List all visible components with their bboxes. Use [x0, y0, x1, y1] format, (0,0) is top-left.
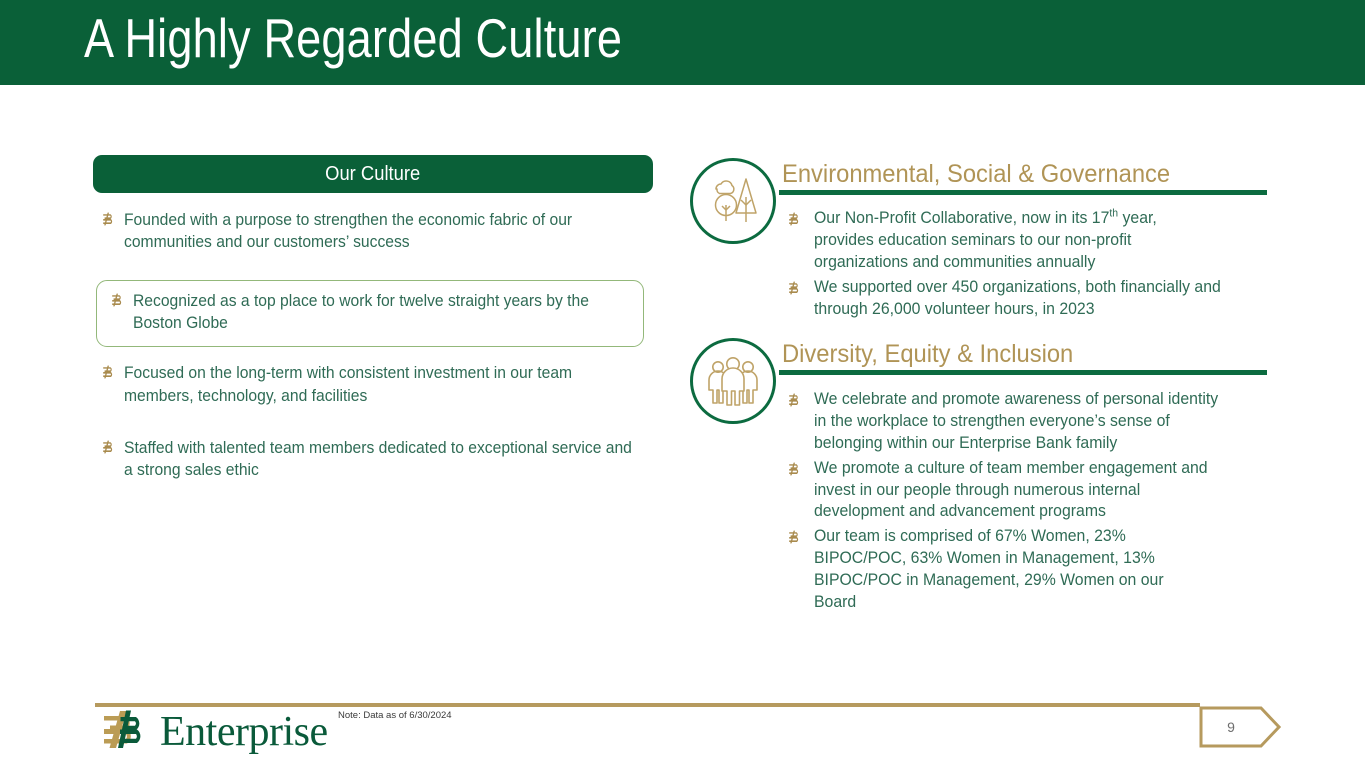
dei-list: We celebrate and promote awareness of pe…: [786, 389, 1272, 617]
footer-note: Note: Data as of 6/30/2024: [338, 710, 452, 721]
list-item: We promote a culture of team member enga…: [786, 458, 1272, 524]
list-item-text: We promote a culture of team member enga…: [814, 458, 1229, 524]
list-item-text: Focused on the long-term with consistent…: [124, 362, 621, 407]
footer-divider: [95, 703, 1200, 707]
eb-bullet-icon: [786, 277, 814, 295]
list-item-text: Our Non-Profit Collaborative, now in its…: [814, 208, 1200, 274]
eb-bullet-icon: [786, 458, 814, 476]
eb-bullet-icon: [96, 362, 124, 379]
our-culture-list: Founded with a purpose to strengthen the…: [96, 205, 656, 508]
list-item-highlighted: Recognized as a top place to work for tw…: [96, 280, 644, 348]
eb-bullet-icon: [786, 208, 814, 226]
list-item-text: We supported over 450 organizations, bot…: [814, 277, 1256, 321]
logo-wordmark: Enterprise: [160, 711, 328, 753]
list-item-text: Our team is comprised of 67% Women, 23% …: [814, 526, 1200, 614]
page-number: 9: [1199, 706, 1263, 748]
people-group-icon: [690, 338, 776, 424]
title-banner: A Highly Regarded Culture: [0, 0, 1365, 85]
eb-bullet-icon: [786, 526, 814, 544]
list-item: Our team is comprised of 67% Women, 23% …: [786, 526, 1272, 614]
list-item: Staffed with talented team members dedic…: [96, 433, 656, 486]
page-number-badge: 9: [1199, 706, 1281, 748]
esg-list: Our Non-Profit Collaborative, now in its…: [786, 208, 1272, 323]
enterprise-logo: Enterprise: [96, 708, 328, 755]
list-item-text: We celebrate and promote awareness of pe…: [814, 389, 1234, 455]
our-culture-header-label: Our Culture: [325, 163, 420, 186]
list-item: We celebrate and promote awareness of pe…: [786, 389, 1272, 455]
eb-bullet-icon: [96, 437, 124, 454]
section-rule: [779, 190, 1267, 195]
page-title: A Highly Regarded Culture: [84, 6, 622, 70]
list-item: Founded with a purpose to strengthen the…: [96, 205, 656, 258]
list-item: Our Non-Profit Collaborative, now in its…: [786, 208, 1272, 274]
list-item-text: Founded with a purpose to strengthen the…: [124, 209, 632, 254]
eb-bullet-icon: [96, 209, 124, 226]
eb-monogram-icon: [96, 708, 154, 755]
section-title-esg: Environmental, Social & Governance: [782, 160, 1170, 189]
trees-icon: [690, 158, 776, 244]
our-culture-header-bar: Our Culture: [93, 155, 653, 193]
eb-bullet-icon: [105, 290, 133, 307]
list-item: Focused on the long-term with consistent…: [96, 358, 656, 411]
list-item: We supported over 450 organizations, bot…: [786, 277, 1272, 321]
section-rule: [779, 370, 1267, 375]
list-item-text: Staffed with talented team members dedic…: [124, 437, 632, 482]
eb-bullet-icon: [786, 389, 814, 407]
list-item-text: Recognized as a top place to work for tw…: [133, 290, 611, 335]
section-title-dei: Diversity, Equity & Inclusion: [782, 340, 1073, 369]
